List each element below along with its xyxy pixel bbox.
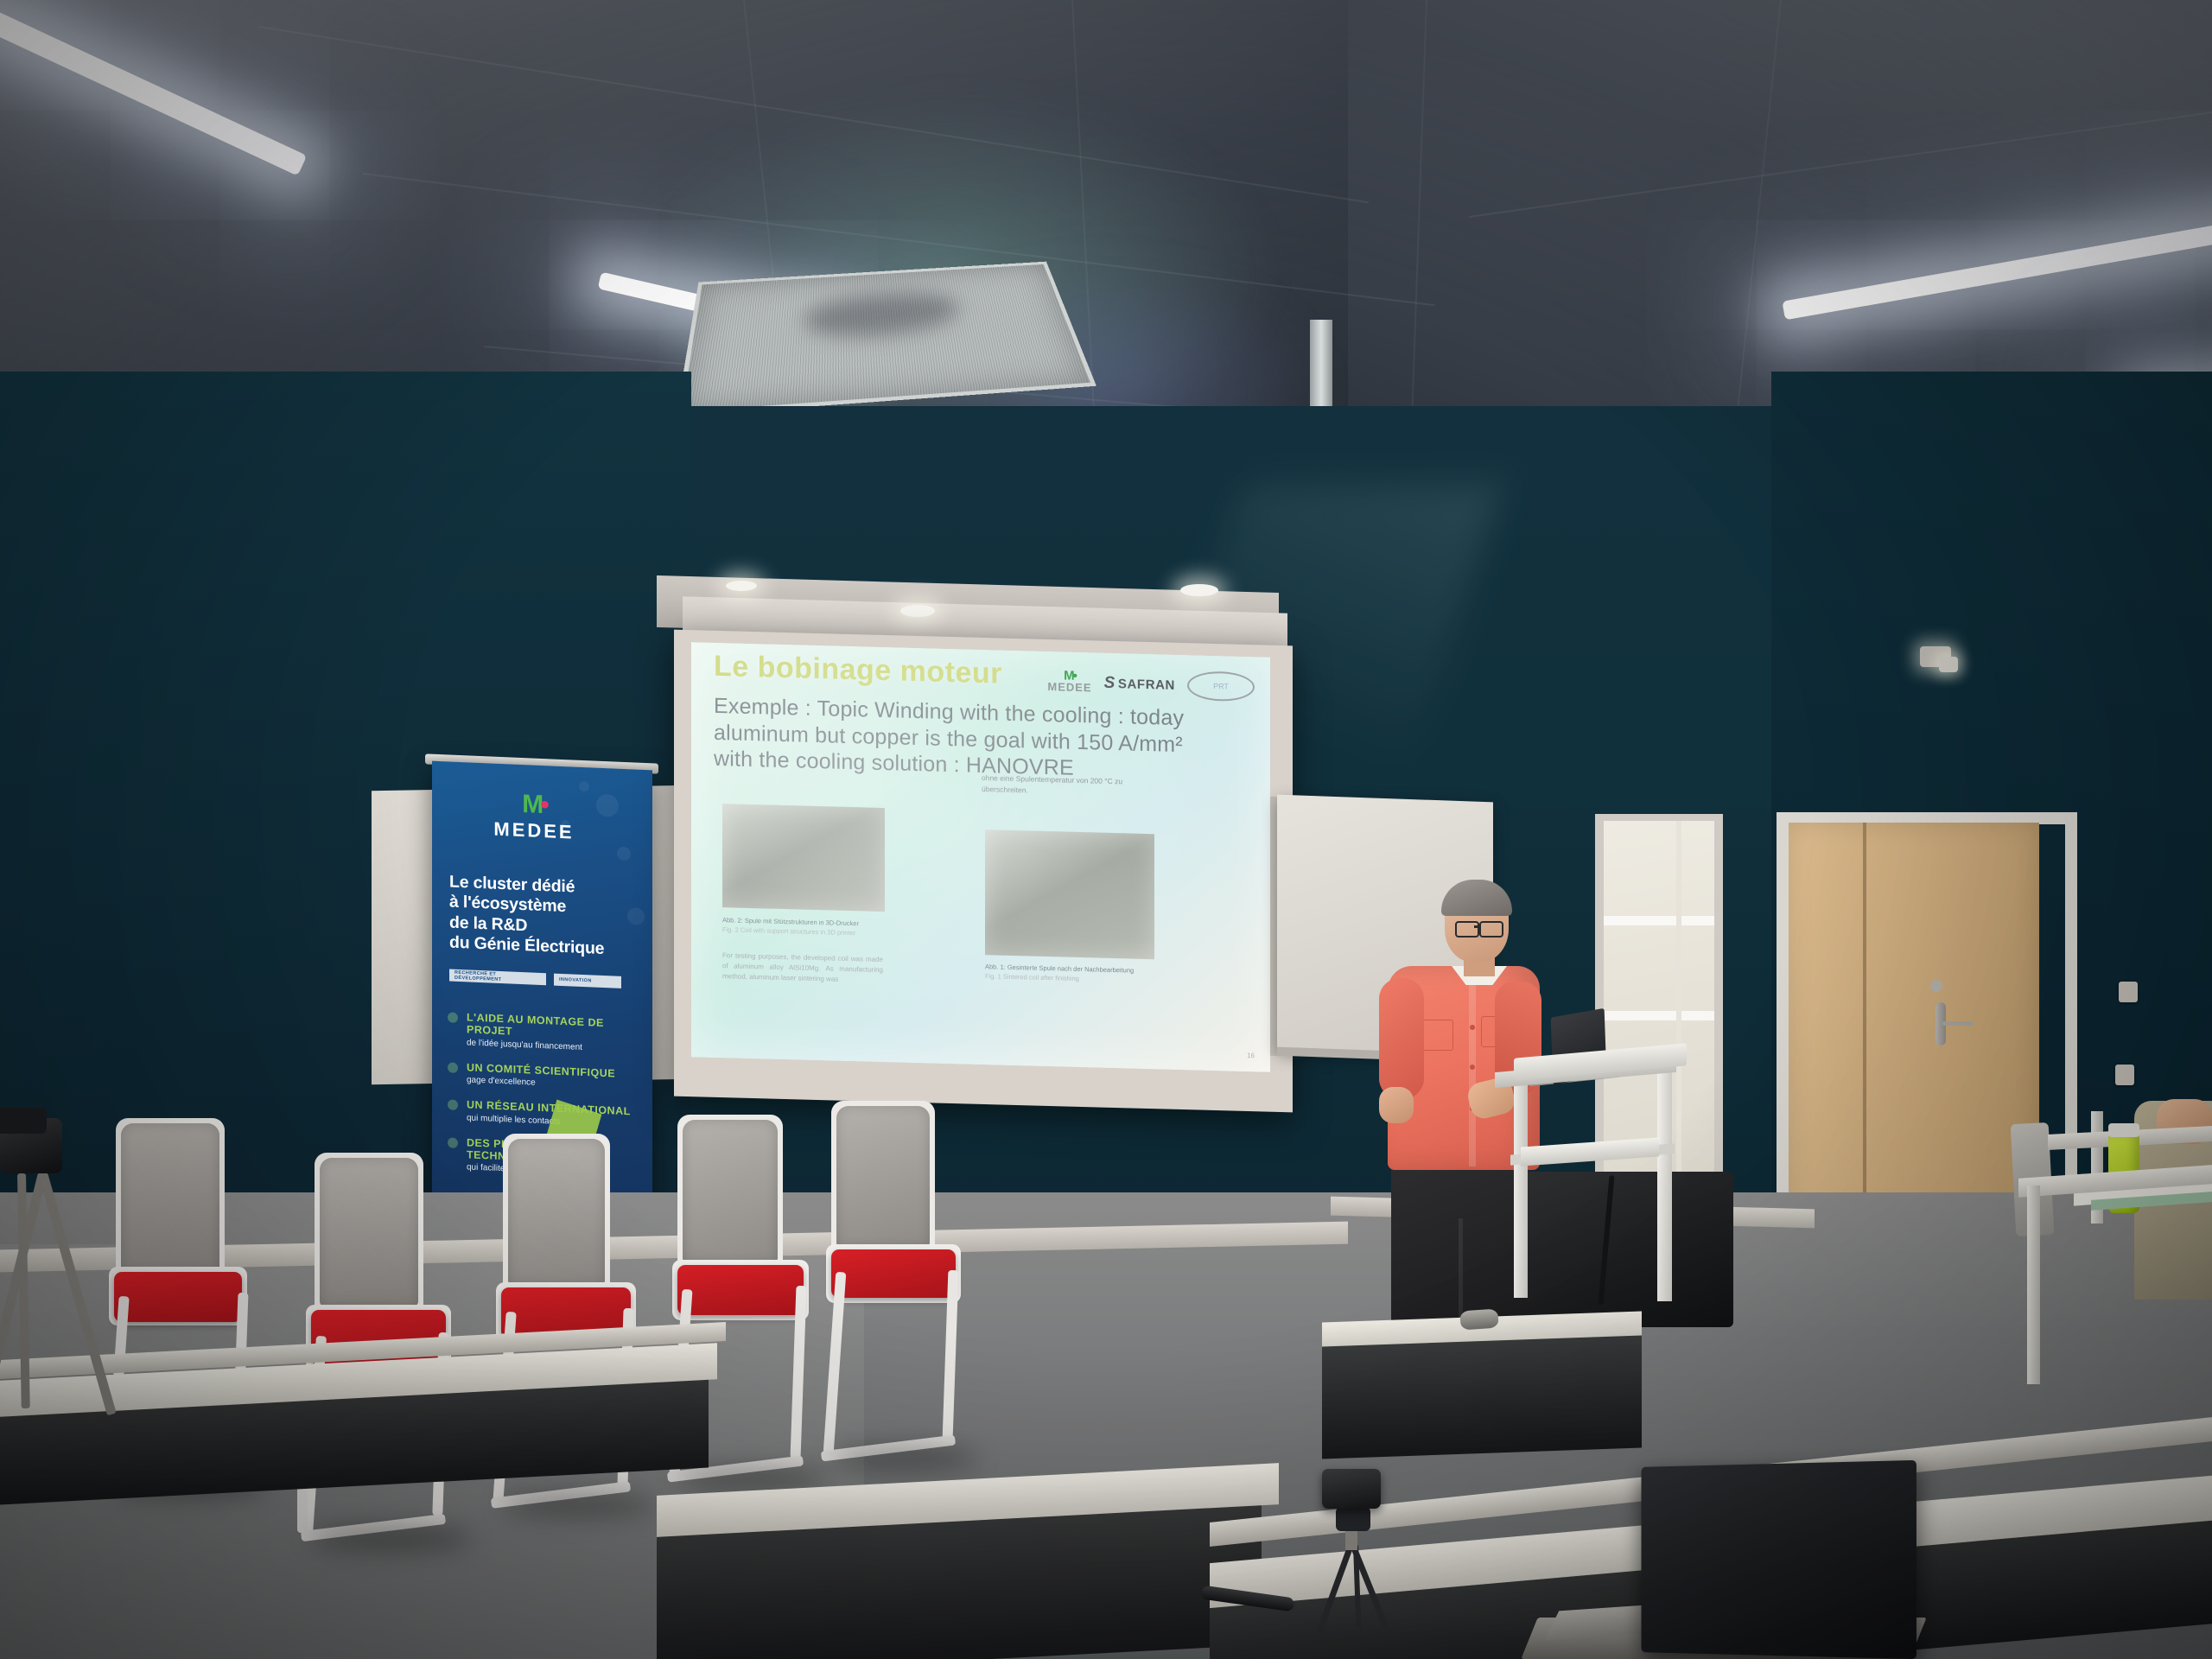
wall-light-fixture (1939, 657, 1958, 672)
slide-german-note: ohne eine Spulentemperatur von 200 °C zu… (982, 772, 1163, 799)
banner-tags: RECHERCHE ET DÉVELOPPEMENT INNOVATION (449, 969, 621, 988)
ceiling-downlight (1180, 584, 1218, 596)
medee-logo-mark: M• (482, 794, 586, 816)
slide-title: Le bobinage moteur (714, 650, 1002, 691)
foreground-laptop-screen[interactable] (1642, 1460, 1916, 1659)
shirt-button (1470, 1065, 1475, 1070)
slide-logo-safran: S SAFRAN (1104, 674, 1175, 695)
door-handle-icon[interactable] (1942, 1021, 1974, 1026)
video-camera-hood (0, 1108, 47, 1134)
slide-logo-label: SAFRAN (1118, 677, 1175, 693)
bullet-icon (448, 1100, 458, 1111)
side-table-leg (2027, 1185, 2040, 1384)
banner-tag: INNOVATION (554, 974, 621, 988)
ceiling-downlight (726, 581, 757, 591)
presenter-left-arm (1379, 978, 1424, 1099)
mid-desk-panel (1322, 1336, 1642, 1459)
webcam[interactable] (1322, 1469, 1381, 1509)
bullet-icon (448, 1062, 458, 1073)
door-leaf-split (1863, 823, 1866, 1237)
bullet-icon (448, 1137, 458, 1148)
slide-page-number: 16 (1247, 1052, 1255, 1059)
figure-left-caption: Abb. 2: Spule mit Stützstrukturen in 3D-… (722, 916, 887, 939)
presenter-remote[interactable] (1459, 1308, 1498, 1330)
slide-figure-right (985, 829, 1154, 959)
presenter-left-hand (1379, 1087, 1414, 1123)
banner-list-item: L'AIDE AU MONTAGE DE PROJET de l'idée ju… (446, 1010, 649, 1055)
slide-figure-left (722, 804, 885, 912)
webcam-lens-icon (1336, 1507, 1370, 1531)
slide-logo-label: PRT (1213, 682, 1229, 690)
projected-slide: Le bobinage moteur M• MEDEE S SAFRAN PRT… (691, 642, 1270, 1072)
door-lock-icon[interactable] (1930, 980, 1942, 992)
banner-tag: RECHERCHE ET DÉVELOPPEMENT (449, 969, 546, 985)
banner-list-item: UN COMITÉ SCIENTIFIQUE gage d'excellence (446, 1060, 649, 1092)
wall-switch[interactable] (2119, 982, 2138, 1002)
slide-logo-label: MEDEE (1047, 680, 1091, 694)
glasses-bridge (1474, 925, 1481, 928)
equipment-case (1526, 1172, 1733, 1327)
glass-door-mullion (1676, 821, 1681, 1225)
slide-logo-medee: M• MEDEE (1047, 671, 1091, 694)
glasses-icon (1455, 921, 1479, 938)
safran-swoosh-icon: S (1104, 674, 1116, 693)
medee-mark-icon: M• (1064, 671, 1076, 680)
shirt-placket (1469, 978, 1476, 1166)
shirt-button (1470, 1025, 1475, 1030)
slide-paragraph: For testing purposes, the developed coil… (722, 950, 883, 986)
slide-body: Exemple : Topic Winding with the cooling… (714, 693, 1232, 785)
slide-logo-third: PRT (1187, 671, 1255, 702)
figure-right-caption: Abb. 1: Gesinterte Spule nach der Nachbe… (985, 963, 1158, 986)
lectern-leg (1514, 1073, 1528, 1298)
ceiling-downlight (900, 605, 935, 617)
medee-logo-name: MEDEE (482, 817, 586, 844)
wooden-double-door[interactable] (1789, 823, 2039, 1237)
banner-list-item: UN RÉSEAU INTERNATIONAL qui multiplie le… (446, 1097, 649, 1129)
banner-headline: Le cluster dédié à l'écosystème de la R&… (449, 872, 644, 961)
bottle-cap[interactable] (2108, 1123, 2139, 1137)
bullet-icon (448, 1012, 458, 1023)
slide-logo-row: M• MEDEE S SAFRAN PRT (1047, 667, 1255, 702)
wall-socket[interactable] (2115, 1065, 2134, 1085)
lectern-leg (1657, 1058, 1672, 1301)
conference-room-photo: M• MEDEE Le cluster dédié à l'écosystème… (0, 0, 2212, 1659)
glasses-icon (1479, 921, 1503, 938)
medee-logo: M• MEDEE (482, 794, 586, 844)
